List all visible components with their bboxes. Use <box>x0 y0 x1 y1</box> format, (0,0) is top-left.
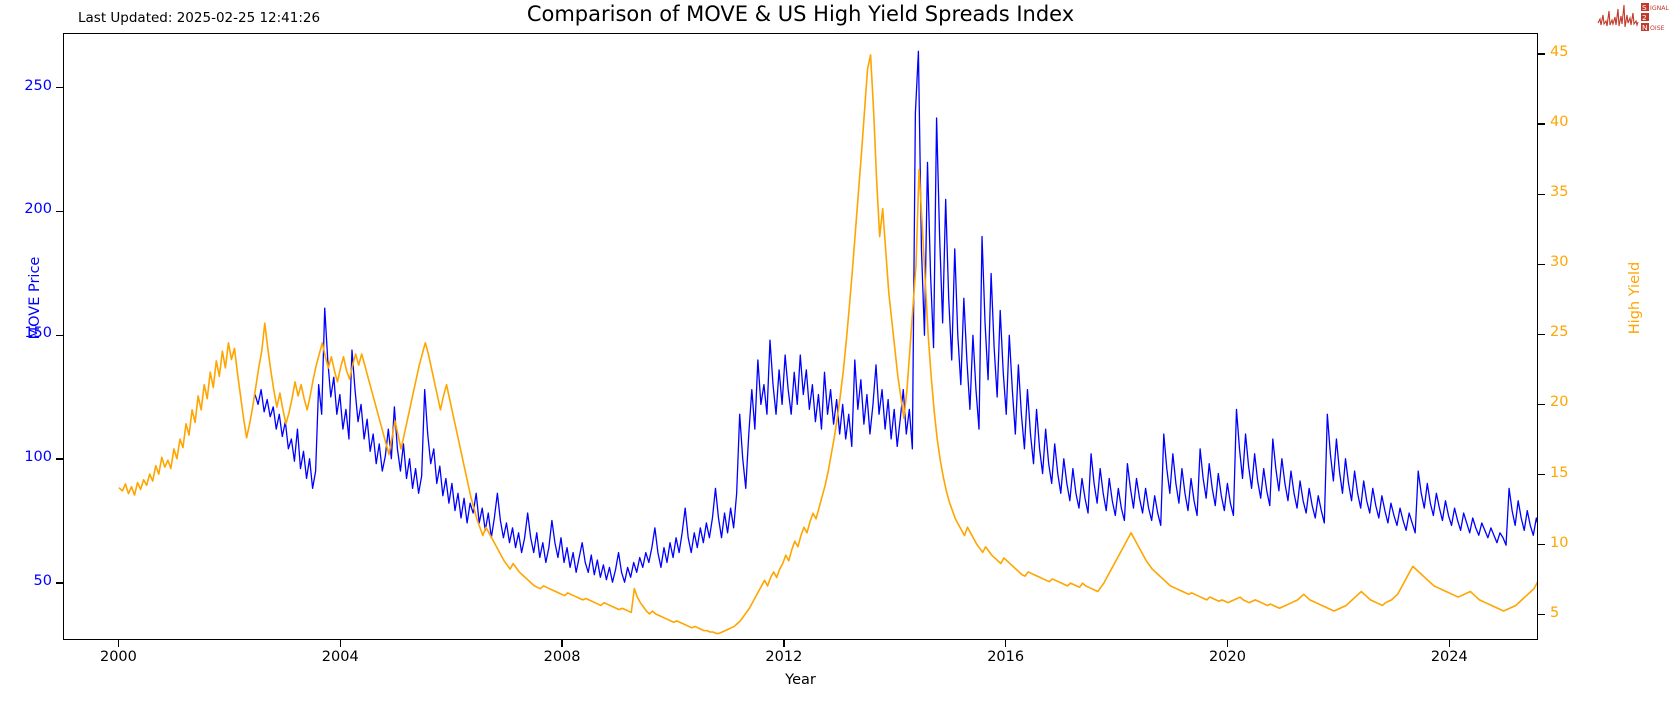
y-tick-label-right: 15 <box>1550 465 1568 481</box>
logo-line3-rest: OISE <box>1650 25 1665 32</box>
logo-svg: S IGNAL 2 N OISE <box>1596 1 1672 33</box>
signal-2-noise-logo: S IGNAL 2 N OISE <box>1596 1 1672 33</box>
y-tick-label-right: 30 <box>1550 254 1568 270</box>
x-tick-label: 2008 <box>544 649 581 665</box>
series-line-move-price <box>255 51 1537 597</box>
y-tick-right <box>1538 194 1545 195</box>
y-tick-right <box>1538 404 1545 405</box>
logo-n-letter: N <box>1642 23 1648 32</box>
logo-line1-rest: IGNAL <box>1650 5 1669 12</box>
waveform-icon <box>1598 5 1638 27</box>
x-tick-label: 2004 <box>322 649 359 665</box>
x-tick <box>561 640 562 647</box>
x-tick <box>1449 640 1450 647</box>
plot-area <box>63 33 1538 640</box>
y-tick-left <box>56 211 63 212</box>
x-tick <box>340 640 341 647</box>
x-tick <box>783 640 784 647</box>
y-axis-right-title: High Yield <box>1627 228 1643 368</box>
x-tick <box>1005 640 1006 647</box>
y-tick-label-right: 40 <box>1550 114 1568 130</box>
y-tick-left <box>56 87 63 88</box>
y-tick-label-left: 250 <box>24 78 52 94</box>
y-tick-right <box>1538 614 1545 615</box>
y-tick-right <box>1538 474 1545 475</box>
x-tick <box>118 640 119 647</box>
y-tick-left <box>56 582 63 583</box>
x-axis-title: Year <box>63 672 1538 688</box>
series-canvas <box>64 34 1537 639</box>
x-tick-label: 2012 <box>765 649 802 665</box>
y-tick-label-left: 100 <box>24 449 52 465</box>
y-tick-left <box>56 335 63 336</box>
x-tick-label: 2024 <box>1431 649 1468 665</box>
x-tick-label: 2016 <box>987 649 1024 665</box>
x-tick-label: 2000 <box>100 649 137 665</box>
x-tick <box>1227 640 1228 647</box>
logo-2-letter: 2 <box>1642 13 1647 22</box>
y-tick-right <box>1538 544 1545 545</box>
x-tick-label: 2020 <box>1209 649 1246 665</box>
y-tick-label-right: 20 <box>1550 394 1568 410</box>
y-tick-label-right: 5 <box>1550 605 1559 621</box>
logo-s-letter: S <box>1642 3 1647 12</box>
y-tick-label-right: 45 <box>1550 44 1568 60</box>
y-axis-left-title: MOVE Price <box>27 228 43 368</box>
y-tick-label-left: 50 <box>34 573 52 589</box>
y-tick-label-right: 10 <box>1550 535 1568 551</box>
y-tick-right <box>1538 53 1545 54</box>
y-tick-label-left: 150 <box>24 325 52 341</box>
y-tick-label-left: 200 <box>24 201 52 217</box>
chart-figure: Last Updated: 2025-02-25 12:41:26 Compar… <box>0 0 1672 703</box>
y-tick-right <box>1538 334 1545 335</box>
series-line-high-yield <box>119 55 1537 633</box>
y-tick-label-right: 35 <box>1550 184 1568 200</box>
y-tick-label-right: 25 <box>1550 324 1568 340</box>
page-title: Comparison of MOVE & US High Yield Sprea… <box>63 2 1538 26</box>
y-tick-left <box>56 458 63 459</box>
y-tick-right <box>1538 264 1545 265</box>
y-tick-right <box>1538 123 1545 124</box>
